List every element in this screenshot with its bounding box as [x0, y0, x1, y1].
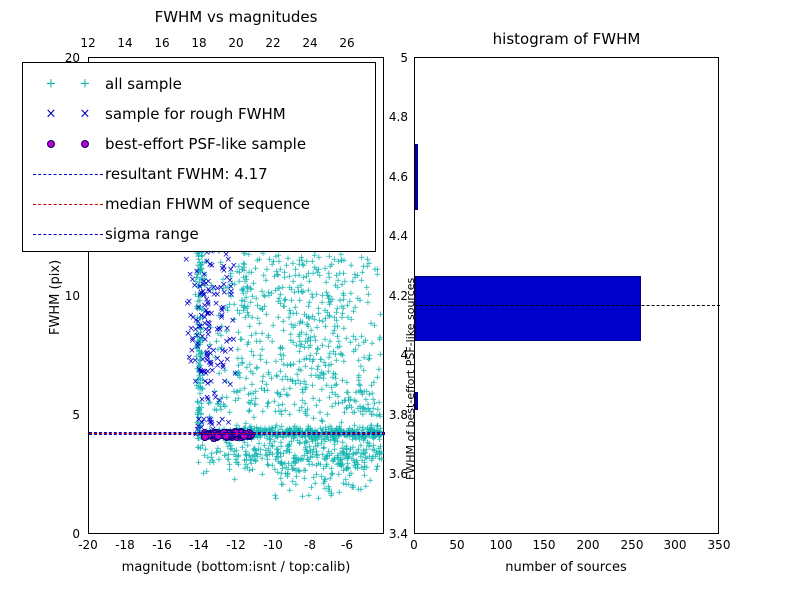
- scatter-point: +: [276, 345, 284, 354]
- scatter-point: +: [281, 373, 289, 382]
- dashdot-blue-line-icon: [31, 219, 105, 249]
- scatter-point: +: [347, 339, 355, 348]
- scatter-point: +: [200, 470, 208, 479]
- scatter-point: ×: [192, 378, 200, 387]
- scatter-point: +: [286, 441, 294, 450]
- histogram-y-axis-label: FWHM of best-effort PSF-like sources: [404, 278, 417, 480]
- scatter-point: ×: [201, 378, 209, 387]
- scatter-point: +: [302, 381, 310, 390]
- histogram-bar: [415, 144, 418, 210]
- scatter-point: +: [257, 446, 265, 455]
- legend-box: + + all sample × × sample for rough FWHM…: [22, 62, 376, 252]
- scatter-point: +: [376, 455, 384, 464]
- scatter-point: +: [248, 332, 256, 341]
- legend-label: resultant FWHM: 4.17: [105, 165, 268, 183]
- scatter-point: ×: [227, 346, 235, 355]
- scatter-point: +: [305, 492, 313, 501]
- scatter-point: +: [286, 284, 294, 293]
- plus-marker-icon: + +: [31, 69, 105, 99]
- scatter-point: +: [335, 489, 343, 498]
- scatter-point: +: [281, 407, 289, 416]
- scatter-point: +: [320, 465, 328, 474]
- scatter-point: +: [259, 471, 267, 480]
- scatter-point: +: [302, 363, 310, 372]
- scatter-point: +: [377, 311, 385, 320]
- scatter-point: +: [247, 368, 255, 377]
- scatter-point: +: [305, 287, 313, 296]
- scatter-point: +: [240, 385, 248, 394]
- scatter-point: +: [371, 322, 379, 331]
- scatter-point: +: [334, 284, 342, 293]
- scatter-point: +: [225, 451, 233, 460]
- scatter-point: +: [309, 382, 317, 391]
- scatter-point: +: [325, 488, 333, 497]
- scatter-point: +: [194, 444, 202, 453]
- scatter-point: ×: [220, 281, 228, 290]
- scatter-point: ×: [205, 278, 213, 287]
- scatter-point: +: [264, 334, 272, 343]
- scatter-point: +: [326, 301, 334, 310]
- scatter-point: ×: [225, 419, 233, 428]
- scatter-point: +: [349, 436, 357, 445]
- scatter-point: +: [323, 382, 331, 391]
- legend-item-median-fwhm: median FHWM of sequence: [31, 189, 367, 219]
- scatter-point: +: [368, 340, 376, 349]
- scatter-point: ×: [201, 302, 209, 311]
- scatter-point: +: [340, 270, 348, 279]
- scatter-point: +: [347, 262, 355, 271]
- scatter-point: +: [366, 355, 374, 364]
- scatter-point: +: [243, 283, 251, 292]
- scatter-point: ×: [232, 370, 240, 379]
- scatter-point: +: [265, 399, 273, 408]
- scatter-point: ×: [206, 261, 214, 270]
- scatter-point: +: [248, 381, 256, 390]
- scatter-point: +: [334, 305, 342, 314]
- scatter-point: +: [376, 411, 384, 420]
- scatter-point: +: [275, 252, 283, 261]
- scatter-point: +: [354, 465, 362, 474]
- scatter-point: +: [258, 288, 266, 297]
- dashed-red-line-icon: [31, 189, 105, 219]
- scatter-x-axis-label: magnitude (bottom:isnt / top:calib): [122, 560, 351, 575]
- scatter-point: +: [330, 437, 338, 446]
- scatter-point: +: [269, 443, 277, 452]
- scatter-point: ×: [199, 288, 207, 297]
- histogram-title: histogram of FWHM: [414, 30, 719, 48]
- scatter-point: +: [223, 394, 231, 403]
- scatter-point: +: [322, 279, 330, 288]
- histogram-axes: [414, 57, 719, 534]
- scatter-point: +: [332, 351, 340, 360]
- scatter-point: ×: [185, 298, 193, 307]
- scatter-point: +: [264, 387, 272, 396]
- scatter-point: +: [256, 320, 264, 329]
- resultant-fwhm-line: [89, 432, 385, 433]
- scatter-point: +: [274, 272, 282, 281]
- scatter-point: +: [287, 337, 295, 346]
- legend-label: best-effort PSF-like sample: [105, 135, 306, 153]
- scatter-point: +: [292, 272, 300, 281]
- dashed-blue-line-icon: [31, 159, 105, 189]
- histogram-x-axis-label: number of sources: [505, 560, 626, 575]
- scatter-point: +: [195, 459, 203, 468]
- scatter-point: +: [325, 312, 333, 321]
- scatter-point: +: [343, 389, 351, 398]
- scatter-point: +: [363, 284, 371, 293]
- legend-item-psf-like: best-effort PSF-like sample: [31, 129, 367, 159]
- figure-canvas: FWHM vs magnitudes 12 14 16 18 20 22 24 …: [0, 0, 800, 600]
- scatter-point: +: [374, 463, 382, 472]
- scatter-point: +: [308, 484, 316, 493]
- scatter-point: +: [320, 445, 328, 454]
- scatter-point: +: [344, 314, 352, 323]
- scatter-point: +: [232, 459, 240, 468]
- scatter-point: ×: [229, 317, 237, 326]
- scatter-point: +: [371, 266, 379, 275]
- scatter-point: ×: [186, 354, 194, 363]
- scatter-point: +: [340, 325, 348, 334]
- scatter-point: ×: [198, 312, 206, 321]
- legend-label: sigma range: [105, 225, 199, 243]
- scatter-point: +: [251, 401, 259, 410]
- scatter-point: +: [281, 269, 289, 278]
- scatter-point: +: [309, 313, 317, 322]
- scatter-point: ×: [221, 378, 229, 387]
- scatter-point: +: [338, 463, 346, 472]
- scatter-point: ×: [189, 337, 197, 346]
- scatter-point: +: [343, 404, 351, 413]
- scatter-point: ×: [219, 362, 227, 371]
- legend-item-all-sample: + + all sample: [31, 69, 367, 99]
- scatter-point: ×: [219, 304, 227, 313]
- scatter-point: ×: [197, 369, 205, 378]
- scatter-point: ×: [204, 354, 212, 363]
- scatter-point: +: [284, 471, 292, 480]
- scatter-point: +: [340, 358, 348, 367]
- scatter-point: ×: [228, 288, 236, 297]
- scatter-point: ×: [214, 326, 222, 335]
- scatter-point: +: [287, 362, 295, 371]
- scatter-point: +: [252, 457, 260, 466]
- scatter-point: +: [352, 389, 360, 398]
- histogram-bar: [415, 276, 641, 342]
- histogram-fwhm-marker-line: [415, 305, 720, 306]
- scatter-point: +: [315, 495, 323, 504]
- scatter-point: +: [244, 442, 252, 451]
- scatter-point: ×: [205, 327, 213, 336]
- scatter-point: ×: [220, 263, 228, 272]
- scatter-point: +: [310, 415, 318, 424]
- scatter-point: +: [377, 351, 385, 360]
- scatter-point: +: [256, 338, 264, 347]
- scatter-point: +: [254, 302, 262, 311]
- scatter-point: +: [361, 463, 369, 472]
- scatter-point: +: [274, 285, 282, 294]
- scatter-point: +: [288, 321, 296, 330]
- scatter-point: +: [237, 336, 245, 345]
- scatter-point: +: [321, 476, 329, 485]
- scatter-point: +: [311, 252, 319, 261]
- scatter-point: +: [354, 295, 362, 304]
- scatter-point: +: [364, 299, 372, 308]
- scatter-point: +: [261, 303, 269, 312]
- scatter-point: +: [349, 278, 357, 287]
- scatter-point: +: [263, 359, 271, 368]
- scatter-point: +: [318, 417, 326, 426]
- scatter-point: ×: [189, 314, 197, 323]
- scatter-point: +: [301, 440, 309, 449]
- scatter-point: +: [300, 475, 308, 484]
- scatter-point: +: [359, 405, 367, 414]
- cross-marker-icon: × ×: [31, 99, 105, 129]
- scatter-point: ×: [193, 268, 201, 277]
- scatter-point: +: [238, 360, 246, 369]
- scatter-y-axis-label: FWHM (pix): [48, 260, 63, 335]
- scatter-point: ×: [226, 336, 234, 345]
- scatter-point: ×: [209, 367, 217, 376]
- scatter-point: +: [249, 390, 257, 399]
- scatter-point: +: [289, 310, 297, 319]
- scatter-point: ×: [204, 310, 212, 319]
- scatter-point: +: [362, 337, 370, 346]
- scatter-point: +: [344, 302, 352, 311]
- scatter-point: +: [360, 263, 368, 272]
- legend-item-sigma-range: sigma range: [31, 219, 367, 249]
- scatter-point: +: [321, 336, 329, 345]
- scatter-point: +: [248, 269, 256, 278]
- scatter-point: +: [273, 373, 281, 382]
- scatter-point: +: [241, 303, 249, 312]
- scatter-point: +: [298, 254, 306, 263]
- scatter-point: +: [258, 346, 266, 355]
- scatter-point: +: [376, 334, 384, 343]
- legend-label: median FHWM of sequence: [105, 195, 310, 213]
- legend-item-resultant-fwhm: resultant FWHM: 4.17: [31, 159, 367, 189]
- scatter-point: +: [265, 292, 273, 301]
- scatter-point: +: [375, 366, 383, 375]
- scatter-point: +: [343, 379, 351, 388]
- legend-label: sample for rough FWHM: [105, 105, 286, 123]
- scatter-point: +: [347, 290, 355, 299]
- scatter-point: +: [369, 405, 377, 414]
- scatter-point: ×: [204, 396, 212, 405]
- scatter-point: +: [278, 356, 286, 365]
- scatter-title: FWHM vs magnitudes: [88, 8, 384, 26]
- scatter-point: +: [292, 481, 300, 490]
- scatter-point: +: [248, 314, 256, 323]
- scatter-point: +: [302, 410, 310, 419]
- scatter-point: ×: [230, 262, 238, 271]
- sigma-range-line: [89, 434, 385, 435]
- scatter-point: +: [280, 303, 288, 312]
- legend-label: all sample: [105, 75, 182, 93]
- scatter-point: +: [243, 456, 251, 465]
- scatter-point: ×: [207, 416, 215, 425]
- scatter-point: +: [249, 466, 257, 475]
- scatter-point: +: [337, 257, 345, 266]
- circle-marker-icon: [31, 129, 105, 159]
- scatter-point: +: [265, 371, 273, 380]
- scatter-point: +: [362, 483, 370, 492]
- scatter-point: +: [214, 445, 222, 454]
- scatter-point: +: [292, 460, 300, 469]
- scatter-point: +: [303, 321, 311, 330]
- scatter-point: +: [313, 350, 321, 359]
- scatter-point: +: [231, 476, 239, 485]
- scatter-point: ×: [187, 325, 195, 334]
- legend-item-rough-fwhm: × × sample for rough FWHM: [31, 99, 367, 129]
- scatter-point: +: [309, 395, 317, 404]
- scatter-point: +: [330, 327, 338, 336]
- scatter-point: +: [204, 454, 212, 463]
- scatter-point: +: [279, 318, 287, 327]
- scatter-point: +: [360, 367, 368, 376]
- scatter-point: +: [323, 289, 331, 298]
- median-fwhm-line: [89, 433, 385, 434]
- scatter-point: +: [310, 474, 318, 483]
- scatter-point: +: [295, 333, 303, 342]
- scatter-point: +: [332, 375, 340, 384]
- scatter-point: +: [269, 322, 277, 331]
- scatter-point: +: [368, 455, 376, 464]
- scatter-point: +: [289, 260, 297, 269]
- scatter-point: ×: [183, 256, 191, 265]
- scatter-point: +: [360, 451, 368, 460]
- scatter-point: +: [289, 377, 297, 386]
- scatter-point: +: [271, 492, 279, 501]
- scatter-point: ×: [216, 397, 224, 406]
- scatter-point: +: [305, 461, 313, 470]
- scatter-point: +: [260, 272, 268, 281]
